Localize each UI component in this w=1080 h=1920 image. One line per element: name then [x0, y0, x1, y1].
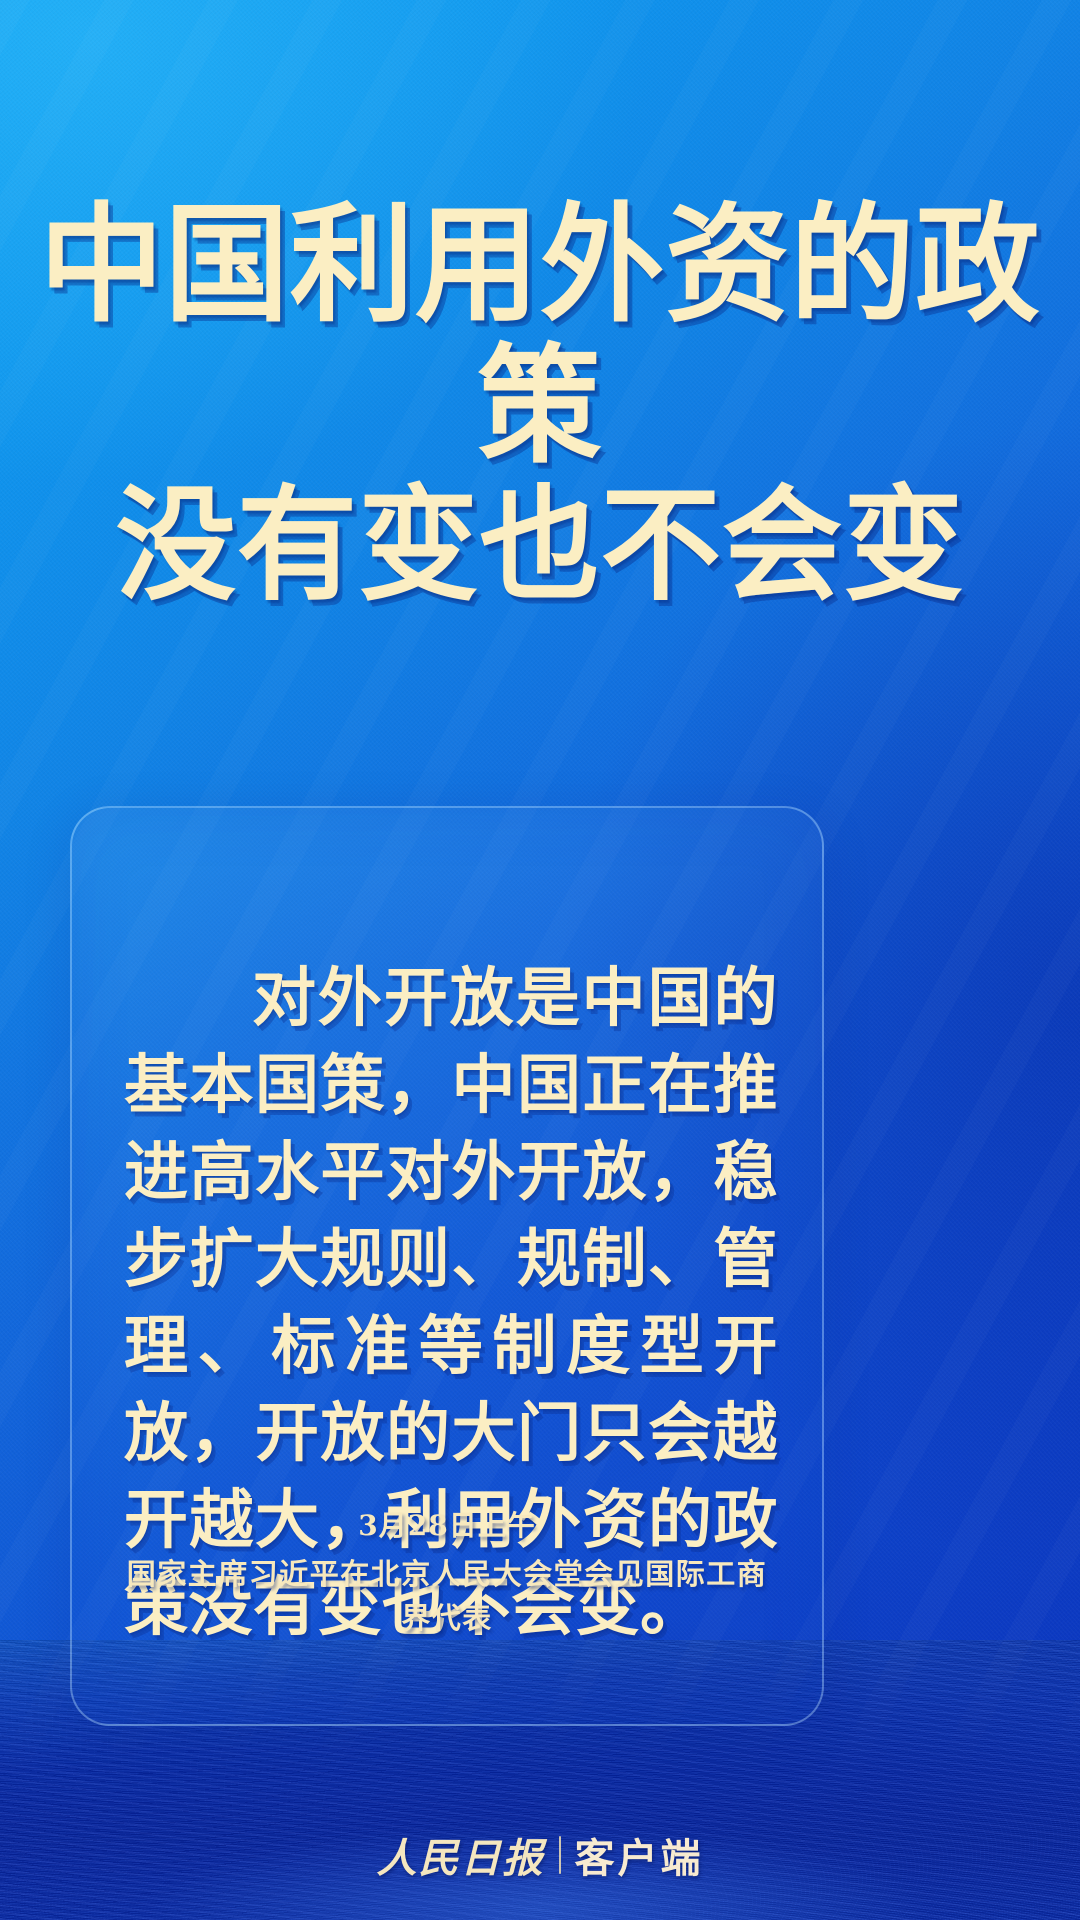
- quote-card: 对外开放是中国的基本国策，中国正在推进高水平对外开放，稳步扩大规则、规制、管理、…: [70, 806, 824, 1726]
- caption-date: 3月28日上午: [112, 1505, 782, 1547]
- caption-event: 国家主席习近平在北京人民大会堂会见国际工商界代表: [112, 1553, 782, 1640]
- headline-line-1: 中国利用外资的政策: [16, 196, 1064, 478]
- headline: 中国利用外资的政策 没有变也不会变: [0, 196, 1080, 614]
- product-name: 客户端: [575, 1826, 704, 1884]
- quote-card-inner: 对外开放是中国的基本国策，中国正在推进高水平对外开放，稳步扩大规则、规制、管理、…: [72, 808, 822, 1724]
- footer-logo: 人民日报 客户端: [0, 1826, 1080, 1884]
- poster-root: 中国利用外资的政策 没有变也不会变 对外开放是中国的基本国策，中国正在推进高水平…: [0, 0, 1080, 1920]
- logo-divider-icon: [559, 1836, 561, 1874]
- headline-line-2: 没有变也不会变: [16, 478, 1064, 614]
- quote-caption: 3月28日上午 国家主席习近平在北京人民大会堂会见国际工商界代表: [112, 1505, 782, 1640]
- publisher-wordmark: 人民日报: [377, 1826, 545, 1884]
